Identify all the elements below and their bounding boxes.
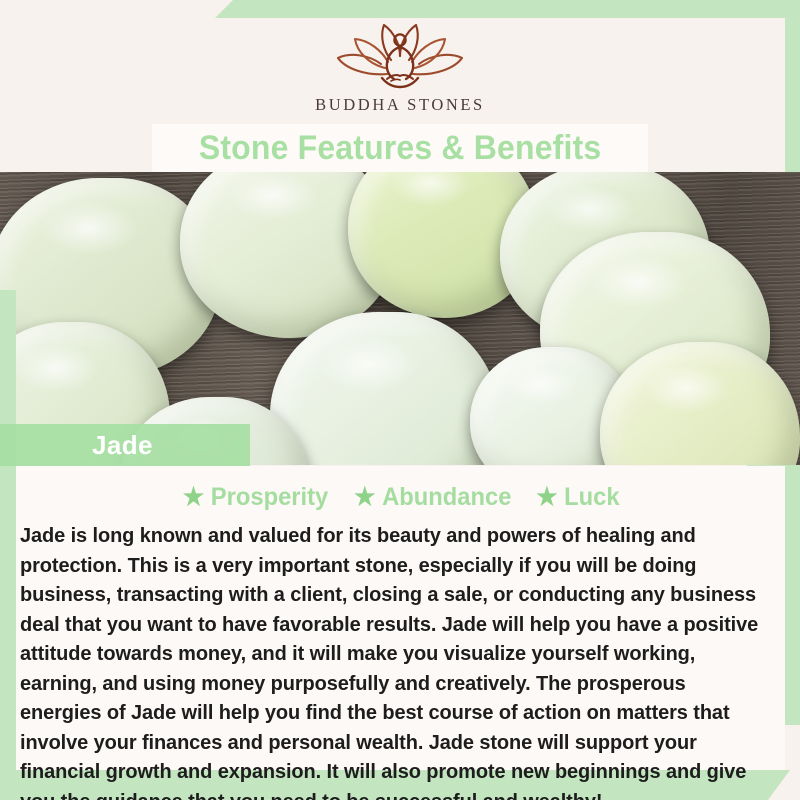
- brand-name: BUDDHA STONES: [315, 95, 485, 115]
- page-title-band: Stone Features & Benefits: [152, 124, 648, 172]
- stone-description: Jade is long known and valued for its be…: [20, 522, 769, 800]
- star-icon: ★: [183, 485, 204, 510]
- decorative-green-right-strip-lower: [785, 470, 800, 725]
- stone-name: Jade: [92, 430, 153, 461]
- page-title: Stone Features & Benefits: [199, 129, 602, 168]
- benefit-item: ★ Abundance: [355, 483, 512, 512]
- benefit-label: Abundance: [382, 483, 511, 512]
- benefits-list: ★ Prosperity ★ Abundance ★ Luck: [16, 466, 785, 514]
- star-icon: ★: [536, 485, 557, 510]
- stone-name-badge: Jade: [0, 424, 250, 466]
- brand-logo: BUDDHA STONES: [315, 18, 485, 115]
- benefit-label: Luck: [564, 483, 619, 512]
- benefit-label: Prosperity: [211, 483, 328, 512]
- benefit-item: ★ Luck: [536, 483, 619, 512]
- stone-info-poster: BUDDHA STONES Stone Features & Benefits …: [0, 0, 800, 800]
- stone-photo: [0, 172, 800, 465]
- decorative-green-left-strip: [0, 290, 16, 780]
- benefit-item: ★ Prosperity: [183, 483, 328, 512]
- star-icon: ★: [355, 485, 376, 510]
- stone-content-panel: ★ Prosperity ★ Abundance ★ Luck Jade is …: [16, 466, 785, 770]
- lotus-meditation-icon: [325, 18, 475, 90]
- decorative-green-top-bar: [215, 0, 800, 18]
